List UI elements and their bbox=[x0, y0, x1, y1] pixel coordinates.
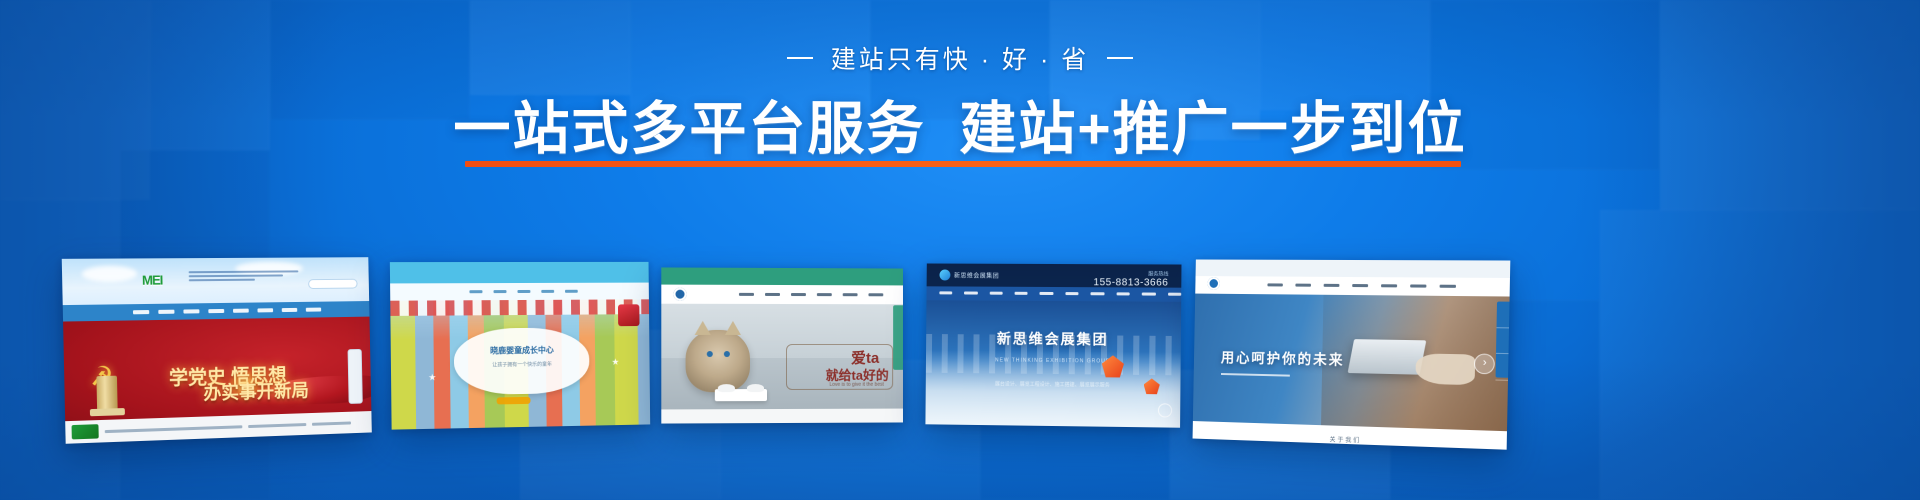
hero-headline-2: 办实事开新局 bbox=[203, 377, 309, 406]
site-nav[interactable] bbox=[390, 283, 649, 301]
footer-logo bbox=[72, 424, 99, 439]
site-header bbox=[390, 262, 649, 284]
headline-wrap: 一站式多平台服务建站+推广一步到位 bbox=[453, 99, 1466, 159]
banner-headline: 一站式多平台服务建站+推广一步到位 bbox=[453, 99, 1466, 159]
site-logo: 新思维会展集团 bbox=[939, 270, 999, 281]
search-input[interactable] bbox=[308, 278, 357, 288]
card-party-site-inner: MEI ☭ 学党史 悟思想 办实事开新局 bbox=[62, 257, 372, 444]
cat-photo bbox=[686, 330, 750, 392]
company-title-lines bbox=[189, 270, 299, 283]
site-logo bbox=[674, 288, 687, 301]
card-kindergarten-site-inner: ★ ★ 晓鹿婴童成长中心 让孩子拥有一个快乐的童年 bbox=[390, 262, 650, 430]
awning-stripe bbox=[390, 299, 649, 315]
side-rail[interactable] bbox=[1496, 302, 1510, 378]
list-item[interactable]: 用心呵护你的未来 › 关于我们 bbox=[1193, 259, 1511, 449]
list-item[interactable]: ★ ★ 晓鹿婴童成长中心 让孩子拥有一个快乐的童年 bbox=[390, 262, 650, 430]
hero-photo: 用心呵护你的未来 › bbox=[1193, 294, 1510, 431]
pet-bowls bbox=[715, 389, 767, 401]
kicker-dash-left bbox=[787, 57, 813, 59]
list-item[interactable]: 新思维会展集团 服务热线 155-8813-3666 新思维会展集团 NEW T… bbox=[925, 263, 1181, 427]
kicker-text: 建站只有快 · 好 · 省 bbox=[831, 46, 1089, 74]
banner-kicker: 建站只有快 · 好 · 省 bbox=[0, 48, 1920, 73]
list-item[interactable]: MEI ☭ 学党史 悟思想 办实事开新局 bbox=[62, 257, 372, 444]
site-topbar bbox=[1196, 259, 1511, 277]
banner-stage: 建站只有快 · 好 · 省 一站式多平台服务建站+推广一步到位 MEI bbox=[0, 0, 1920, 500]
headline-rule bbox=[1221, 373, 1290, 377]
hero-headline-1: 用心呵护你的未来 bbox=[1221, 347, 1345, 369]
hero-photo: 爱ta 就给ta好的 Love is to give it the best bbox=[661, 303, 903, 409]
footer-text: 关于我们 bbox=[1193, 429, 1507, 449]
card-pet-site-inner: 爱ta 就给ta好的 Love is to give it the best bbox=[661, 267, 903, 423]
side-rail[interactable] bbox=[893, 305, 903, 370]
hero-banner: ☭ 学党史 悟思想 办实事开新局 bbox=[63, 317, 371, 422]
logo-mark-icon bbox=[939, 270, 950, 281]
thumbnail-row: MEI ☭ 学党史 悟思想 办实事开新局 bbox=[0, 250, 1920, 500]
banner-copy: 建站只有快 · 好 · 省 一站式多平台服务建站+推广一步到位 bbox=[0, 48, 1920, 159]
hero-headline-3: Love is to give it the best bbox=[829, 381, 884, 387]
card-health-site-inner: 用心呵护你的未来 › 关于我们 bbox=[1193, 259, 1511, 449]
card-exhibition-site-inner: 新思维会展集团 服务热线 155-8813-3666 新思维会展集团 NEW T… bbox=[925, 263, 1181, 427]
monument-shape bbox=[96, 375, 117, 415]
logo-mark-icon bbox=[1207, 277, 1219, 290]
logo-label: 新思维会展集团 bbox=[954, 271, 999, 280]
headline-underline-accent bbox=[465, 161, 1460, 167]
site-badge bbox=[618, 304, 640, 326]
headline-part-2: 建站+推广一步到位 bbox=[959, 97, 1466, 161]
list-item[interactable]: 爱ta 就给ta好的 Love is to give it the best bbox=[661, 267, 903, 423]
site-topbar bbox=[661, 267, 903, 285]
bubble-headline-1: 晓鹿婴童成长中心 bbox=[454, 344, 589, 357]
site-logo bbox=[1207, 277, 1219, 290]
headline-part-1: 一站式多平台服务 bbox=[453, 97, 925, 161]
hero-headline-1: 新思维会展集团 bbox=[926, 328, 1181, 350]
learn-more-button[interactable] bbox=[497, 397, 531, 405]
site-nav[interactable] bbox=[926, 286, 1181, 302]
logo-text: MEI bbox=[142, 273, 163, 288]
bubble-headline-2: 让孩子拥有一个快乐的童年 bbox=[454, 360, 589, 369]
star-icon: ★ bbox=[611, 357, 619, 368]
star-icon: ★ bbox=[428, 372, 436, 383]
paw-icon bbox=[674, 288, 687, 301]
site-footer bbox=[661, 409, 903, 424]
kicker-dash-right bbox=[1107, 57, 1133, 59]
side-widget[interactable] bbox=[347, 349, 362, 404]
speech-bubble: 晓鹿婴童成长中心 让孩子拥有一个快乐的童年 bbox=[454, 327, 589, 395]
site-nav[interactable] bbox=[661, 285, 903, 304]
